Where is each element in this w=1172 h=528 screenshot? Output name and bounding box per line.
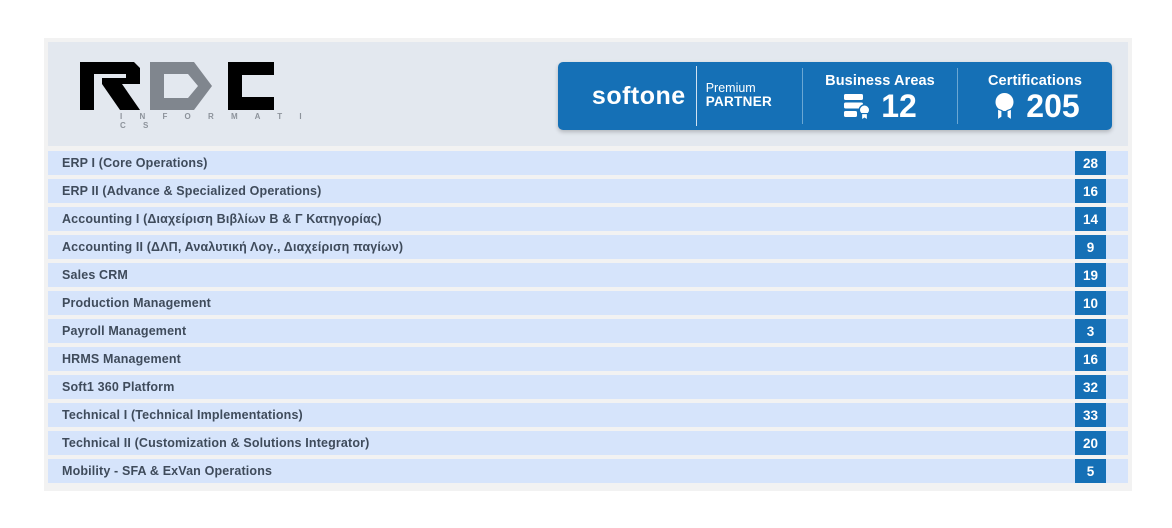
panel-header: I N F O R M A T I C S softone Premium PA…	[48, 42, 1128, 146]
certification-label: Sales CRM	[48, 268, 128, 282]
certification-count: 28	[1075, 151, 1106, 175]
certification-label: Technical II (Customization & Solutions …	[48, 436, 369, 450]
certification-label: Payroll Management	[48, 324, 186, 338]
partner-tier-partner: PARTNER	[706, 95, 772, 110]
softone-wordmark: softone	[592, 84, 686, 109]
certification-count: 33	[1075, 403, 1106, 427]
stat-business-areas: Business Areas 12	[803, 62, 957, 130]
certification-label: Technical I (Technical Implementations)	[48, 408, 303, 422]
certification-row[interactable]: Accounting II (ΔΛΠ, Αναλυτική Λογ., Διαχ…	[48, 235, 1128, 259]
certification-row[interactable]: ERP II (Advance & Specialized Operations…	[48, 179, 1128, 203]
server-certificate-icon	[843, 91, 873, 121]
certification-label: Production Management	[48, 296, 211, 310]
certifications-list: ERP I (Core Operations) 28 ERP II (Advan…	[48, 151, 1128, 487]
certification-row[interactable]: Technical I (Technical Implementations) …	[48, 403, 1128, 427]
stat-business-areas-value: 12	[881, 90, 917, 122]
stat-certifications-value: 205	[1026, 90, 1079, 122]
stat-certifications: Certifications 205	[958, 62, 1112, 130]
rdc-wordmark-icon	[78, 60, 278, 112]
app-card: I N F O R M A T I C S softone Premium PA…	[4, 4, 1168, 524]
certification-row[interactable]: Soft1 360 Platform 32	[48, 375, 1128, 399]
certification-row[interactable]: Mobility - SFA & ExVan Operations 5	[48, 459, 1128, 483]
certification-count: 19	[1075, 263, 1106, 287]
stat-certifications-row: 205	[972, 90, 1098, 122]
certification-label: ERP II (Advance & Specialized Operations…	[48, 184, 321, 198]
partner-tier: Premium PARTNER	[706, 82, 772, 110]
softone-partner-badge: softone Premium PARTNER Business Areas	[558, 62, 1112, 130]
stat-certifications-title: Certifications	[972, 73, 1098, 89]
stat-business-areas-title: Business Areas	[817, 73, 943, 89]
certification-label: Accounting I (Διαχείριση Βιβλίων Β & Γ Κ…	[48, 212, 382, 226]
certification-count: 14	[1075, 207, 1106, 231]
badge-divider	[696, 66, 697, 126]
certification-count: 3	[1075, 319, 1106, 343]
certification-row[interactable]: Sales CRM 19	[48, 263, 1128, 287]
certification-row[interactable]: Payroll Management 3	[48, 319, 1128, 343]
partner-tier-premium: Premium	[706, 82, 772, 96]
certification-row[interactable]: Production Management 10	[48, 291, 1128, 315]
certifications-panel: I N F O R M A T I C S softone Premium PA…	[44, 38, 1132, 491]
certification-row[interactable]: Technical II (Customization & Solutions …	[48, 431, 1128, 455]
certification-count: 16	[1075, 179, 1106, 203]
award-medal-icon	[990, 91, 1018, 121]
certification-label: HRMS Management	[48, 352, 181, 366]
certification-count: 9	[1075, 235, 1106, 259]
rdc-logo: I N F O R M A T I C S	[78, 60, 318, 130]
softone-brand-block: softone Premium PARTNER	[558, 62, 802, 130]
certification-count: 5	[1075, 459, 1106, 483]
rdc-tagline: I N F O R M A T I C S	[120, 112, 318, 130]
certification-label: Soft1 360 Platform	[48, 380, 174, 394]
stat-business-areas-row: 12	[817, 90, 943, 122]
certification-row[interactable]: ERP I (Core Operations) 28	[48, 151, 1128, 175]
certification-label: Accounting II (ΔΛΠ, Αναλυτική Λογ., Διαχ…	[48, 240, 403, 254]
certification-label: ERP I (Core Operations)	[48, 156, 208, 170]
certification-row[interactable]: Accounting I (Διαχείριση Βιβλίων Β & Γ Κ…	[48, 207, 1128, 231]
certification-count: 16	[1075, 347, 1106, 371]
certification-count: 32	[1075, 375, 1106, 399]
certification-count: 20	[1075, 431, 1106, 455]
certification-count: 10	[1075, 291, 1106, 315]
certification-row[interactable]: HRMS Management 16	[48, 347, 1128, 371]
certification-label: Mobility - SFA & ExVan Operations	[48, 464, 272, 478]
